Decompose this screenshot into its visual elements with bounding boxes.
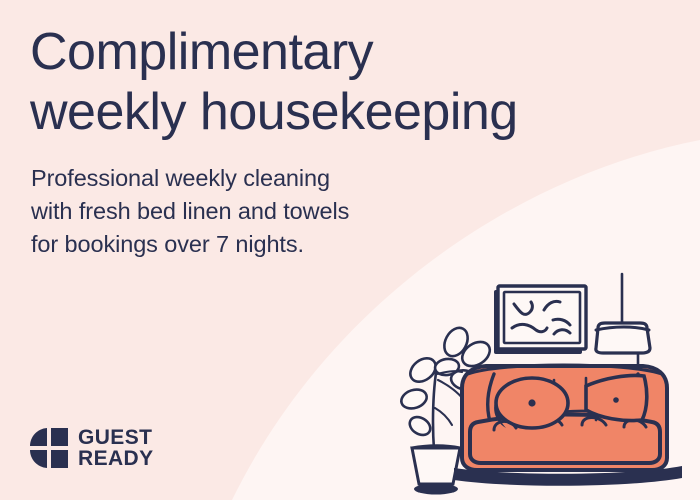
page-title: Complimentary weekly housekeeping xyxy=(30,22,630,143)
living-room-illustration: .ink { fill:none; stroke:#2A3050; stroke… xyxy=(390,262,700,500)
logo-word-guest: GUEST xyxy=(78,427,154,448)
round-cushion xyxy=(494,378,568,428)
logo-word-ready: READY xyxy=(78,448,154,469)
promo-card: Complimentary weekly housekeeping Profes… xyxy=(0,0,700,500)
guestready-logo[interactable]: GUEST READY xyxy=(30,427,154,470)
page-subtitle: Professional weekly cleaning with fresh … xyxy=(31,162,451,261)
framed-picture xyxy=(494,286,586,354)
pendant-lamp xyxy=(596,274,650,366)
logo-wordmark: GUEST READY xyxy=(78,427,154,470)
guestready-logo-mark xyxy=(30,428,68,468)
sofa xyxy=(454,365,682,486)
throw-pillow xyxy=(586,375,647,420)
